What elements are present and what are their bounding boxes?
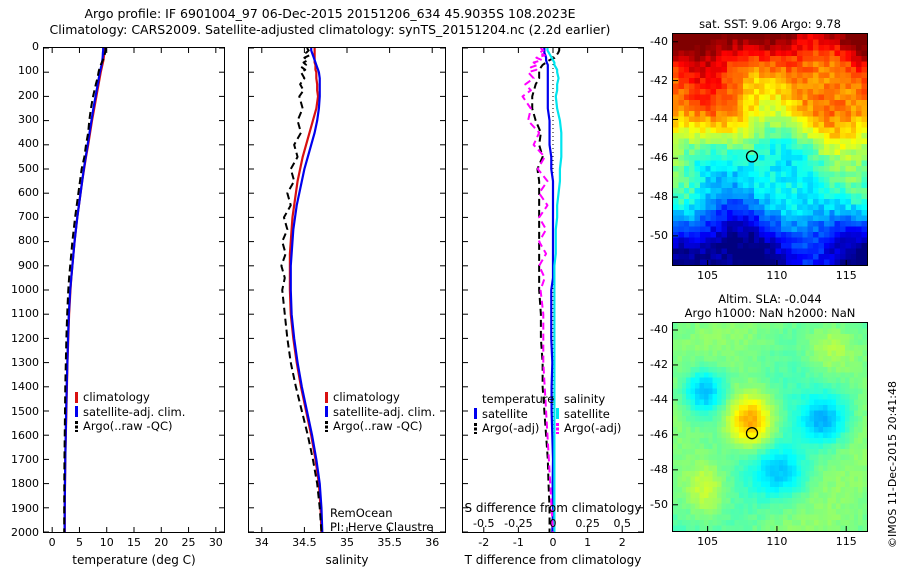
legend-item: satellite-adj. clim. (325, 405, 435, 420)
legend-label: satellite (564, 407, 610, 422)
legend-item: Argo(..raw -QC) (75, 419, 185, 434)
depth-tick-label: 1400 (0, 380, 39, 393)
map-lat-tick-label: -50 (638, 498, 668, 511)
legend-item: Argo(-adj) (556, 421, 621, 436)
map-title-line: Argo h1000: NaN h2000: NaN (672, 306, 868, 320)
depth-tick-label: 600 (0, 186, 39, 199)
depth-tick-label: 1500 (0, 405, 39, 418)
legend-header: temperature (474, 392, 554, 407)
map-lat-tick-label: -46 (638, 428, 668, 441)
legend-header-label: temperature (482, 392, 554, 407)
plot-panel-temperature (43, 47, 225, 533)
legend-item: Argo(..raw -QC) (325, 419, 435, 434)
plot-area-difference (463, 48, 643, 532)
legend-salinity: climatologysatellite-adj. clim.Argo(..ra… (325, 390, 435, 434)
legend-temperature: climatologysatellite-adj. clim.Argo(..ra… (75, 390, 185, 434)
depth-tick-label: 1800 (0, 477, 39, 490)
legend-swatch (556, 408, 559, 419)
map-title-sst-map: sat. SST: 9.06 Argo: 9.78 (672, 17, 868, 31)
depth-tick-label: 1300 (0, 356, 39, 369)
legend-label: climatology (83, 390, 150, 405)
map-lon-tick-label: 105 (683, 269, 733, 282)
remocean-credit: RemOceanPI: Herve Claustre (330, 506, 433, 534)
legend-item: satellite (556, 407, 621, 422)
depth-tick-label: 500 (0, 162, 39, 175)
depth-tick-label: 1000 (0, 283, 39, 296)
legend-label: Argo(-adj) (564, 421, 621, 436)
map-lat-tick-label: -50 (638, 229, 668, 242)
legend-item: climatology (325, 390, 435, 405)
x-axis-label-salinity: salinity (248, 553, 446, 567)
x-axis-label-difference: T difference from climatology (462, 553, 644, 567)
x-axis-label-temperature: temperature (deg C) (43, 553, 225, 567)
legend-label: satellite-adj. clim. (333, 405, 435, 420)
map-lat-tick-label: -40 (638, 35, 668, 48)
map-title-sla-map: Altim. SLA: -0.044Argo h1000: NaN h2000:… (672, 292, 868, 320)
depth-tick-label: 1100 (0, 307, 39, 320)
map-lat-tick-label: -44 (638, 393, 668, 406)
map-lat-tick-label: -46 (638, 151, 668, 164)
legend-item: satellite-adj. clim. (75, 405, 185, 420)
map-title-line: Altim. SLA: -0.044 (672, 292, 868, 306)
legend-group-salinity: salinitysatelliteArgo(-adj) (556, 392, 621, 436)
map-lon-tick-label: 110 (752, 269, 802, 282)
plot-area-salinity (249, 48, 445, 532)
series-satellite-adj-clim- (291, 48, 323, 532)
legend-label: satellite (482, 407, 528, 422)
depth-tick-label: 700 (0, 210, 39, 223)
legend-item: Argo(-adj) (474, 421, 554, 436)
plot-panel-difference (462, 47, 644, 533)
plot-panel-salinity (248, 47, 446, 533)
map-lon-tick-label: 115 (821, 535, 871, 548)
plot-area-temperature (44, 48, 224, 532)
legend-header-label: salinity (564, 392, 605, 407)
map-lon-tick-label: 110 (752, 535, 802, 548)
legend-swatch (75, 406, 78, 417)
depth-tick-label: 1600 (0, 429, 39, 442)
legend-label: satellite-adj. clim. (83, 405, 185, 420)
depth-tick-label: 1900 (0, 502, 39, 515)
map-lon-tick-label: 105 (683, 535, 733, 548)
map-title-line: sat. SST: 9.06 Argo: 9.78 (672, 17, 868, 31)
legend-swatch (75, 392, 78, 403)
depth-tick-label: 100 (0, 64, 39, 77)
title-line-2: Climatology: CARS2009. Satellite-adjuste… (0, 22, 660, 38)
x-tick-label: 2 (592, 536, 652, 549)
figure-title: Argo profile: IF 6901004_97 06-Dec-2015 … (0, 6, 660, 38)
map-lat-tick-label: -48 (638, 190, 668, 203)
legend-swatch (474, 408, 477, 419)
legend-swatch (325, 406, 328, 417)
map-lat-tick-label: -40 (638, 323, 668, 336)
map-lat-tick-label: -48 (638, 463, 668, 476)
title-line-1: Argo profile: IF 6901004_97 06-Dec-2015 … (0, 6, 660, 22)
map-sla-map (672, 322, 868, 532)
legend-swatch (325, 392, 328, 403)
map-lat-tick-label: -42 (638, 358, 668, 371)
x-tick-label-salinity-diff: 0.5 (592, 517, 652, 530)
depth-tick-label: 1700 (0, 453, 39, 466)
credit-line: RemOcean (330, 506, 433, 520)
depth-tick-label: 1200 (0, 332, 39, 345)
depth-tick-label: 200 (0, 89, 39, 102)
map-lat-tick-label: -44 (638, 112, 668, 125)
map-sst-map (672, 33, 868, 266)
legend-label: Argo(-adj) (482, 421, 539, 436)
legend-swatch (75, 421, 78, 432)
copyright-label: ©IMOS 11-Dec-2015 20:41:48 (886, 381, 899, 548)
series-satellite-adj-clim- (65, 48, 104, 532)
legend-label: Argo(..raw -QC) (83, 419, 173, 434)
legend-group-temperature: temperaturesatelliteArgo(-adj) (474, 392, 554, 436)
depth-tick-label: 800 (0, 234, 39, 247)
map-field-sla-map (673, 323, 867, 531)
x-axis-label-salinity-diff: S difference from climatology (462, 501, 644, 515)
depth-tick-label: 300 (0, 113, 39, 126)
legend-swatch (556, 423, 559, 434)
depth-tick-label: 900 (0, 259, 39, 272)
legend-swatch (474, 423, 477, 434)
legend-header: salinity (556, 392, 621, 407)
depth-tick-label: 400 (0, 137, 39, 150)
depth-tick-label: 0 (0, 40, 39, 53)
credit-line: PI: Herve Claustre (330, 520, 433, 534)
map-lon-tick-label: 115 (821, 269, 871, 282)
legend-swatch (325, 421, 328, 432)
legend-item: climatology (75, 390, 185, 405)
legend-label: Argo(..raw -QC) (333, 419, 423, 434)
legend-item: satellite (474, 407, 554, 422)
legend-label: climatology (333, 390, 400, 405)
map-lat-tick-label: -42 (638, 74, 668, 87)
map-field-sst-map (673, 34, 867, 265)
